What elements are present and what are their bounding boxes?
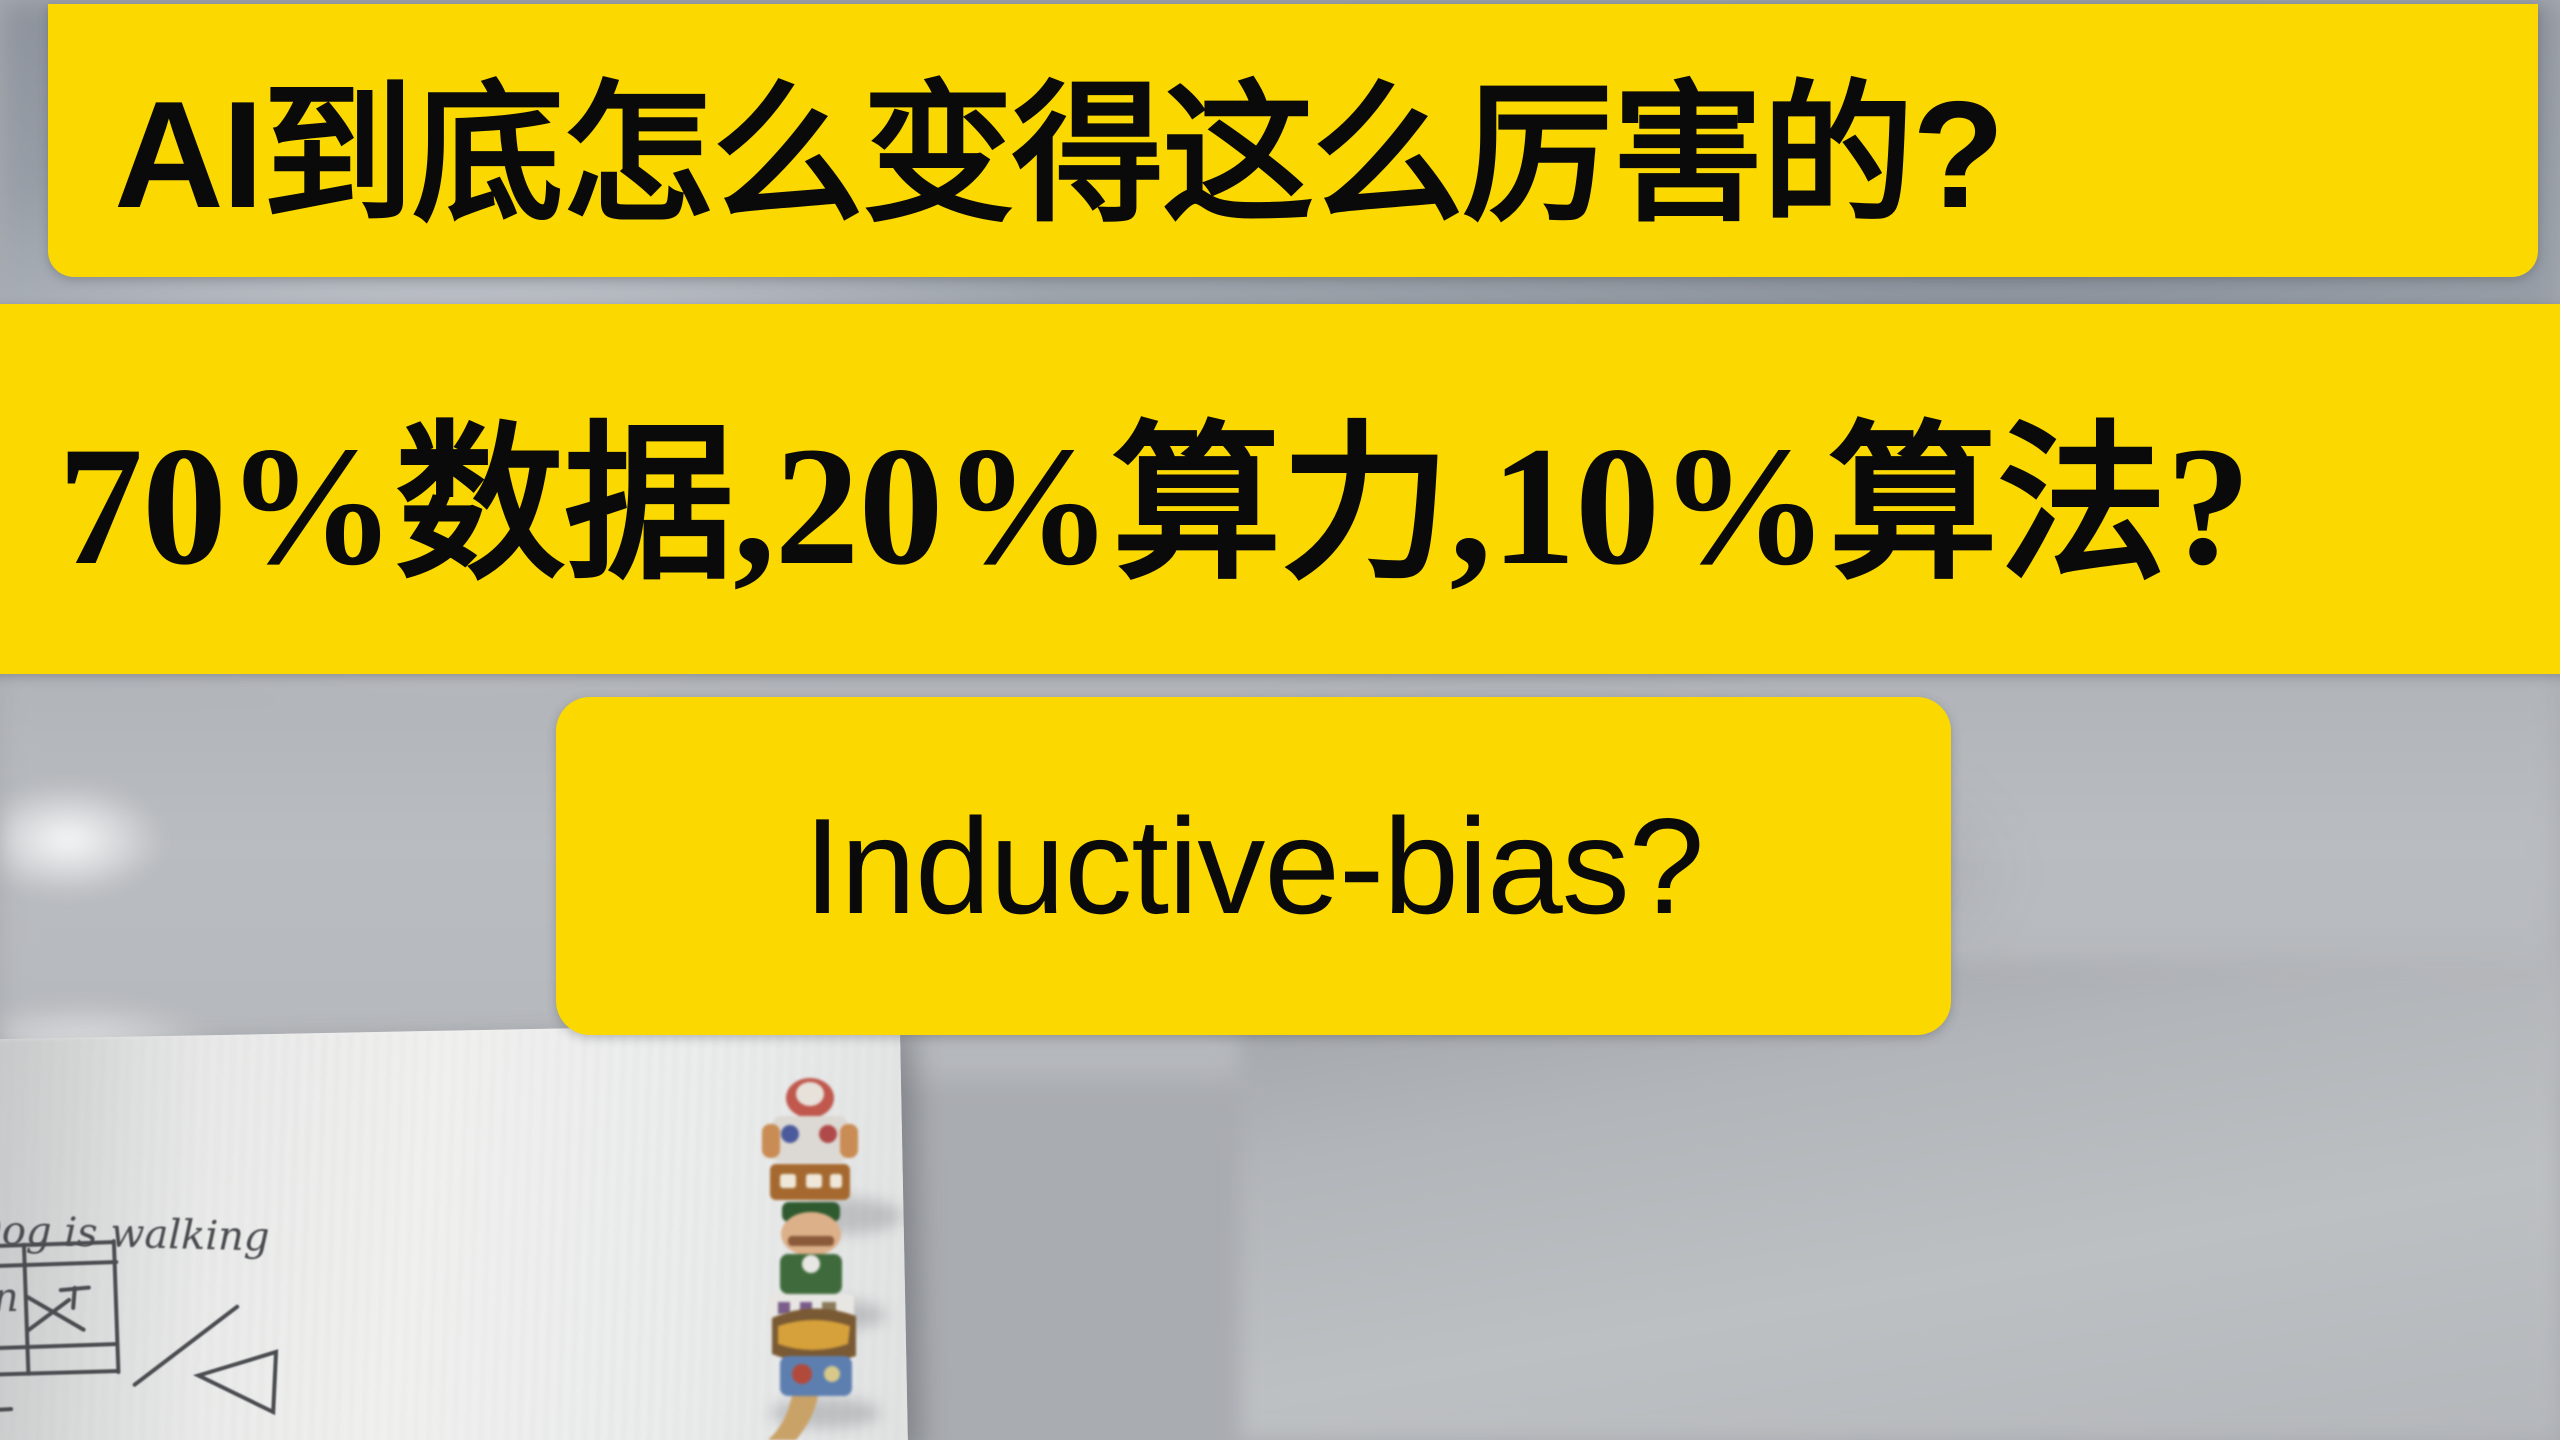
figurine-bottom	[752, 1300, 872, 1440]
figurine-top	[750, 1072, 870, 1212]
term-banner: Inductive-bias?	[556, 697, 1951, 1035]
ratio-banner: 70%数据,20%算力,10%算法?	[0, 304, 2560, 674]
headline-text: AI到底怎么变得这么厉害的?	[114, 31, 2003, 251]
headline-banner: AI到底怎么变得这么厉害的?	[48, 4, 2538, 277]
handwriting-token-n: n	[0, 1275, 19, 1321]
background-highlight-upper	[0, 780, 170, 900]
handwriting-caption: Dog is walking	[0, 1207, 270, 1260]
ratio-text: 70%数据,20%算力,10%算法?	[58, 366, 2250, 612]
term-text: Inductive-bias?	[804, 788, 1704, 944]
video-frame: Dog is walking n	[0, 0, 2560, 1440]
